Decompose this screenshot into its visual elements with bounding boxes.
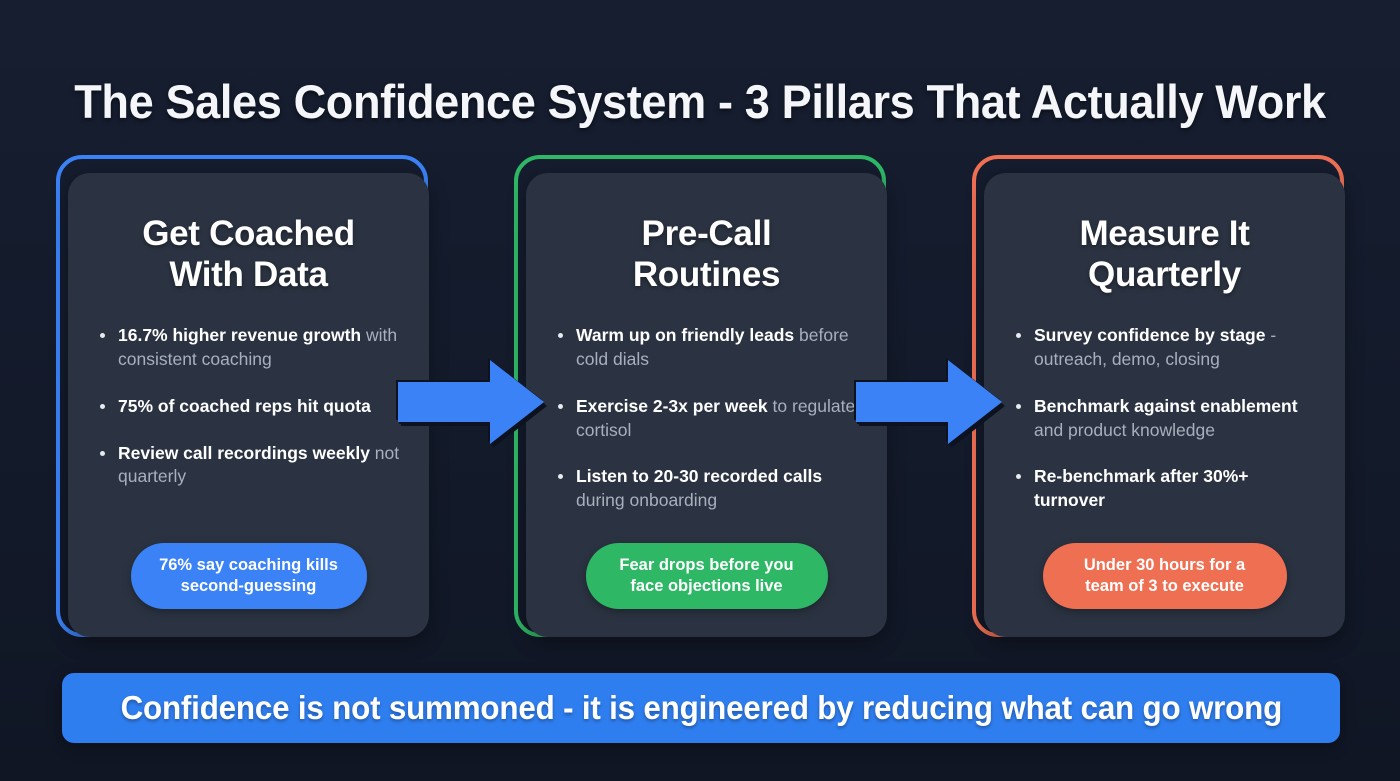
card-highlight-badge: 76% say coaching kills second-guessing bbox=[131, 543, 367, 609]
bullet-bold-text: Benchmark against enablement bbox=[1034, 396, 1298, 416]
list-item: Review call recordings weekly not quarte… bbox=[98, 442, 407, 490]
bullet-bold-text: 75% of coached reps hit quota bbox=[118, 396, 371, 416]
pillar-card-get-coached-with-data: Get CoachedWith Data 16.7% higher revenu… bbox=[56, 155, 428, 637]
list-item: Exercise 2-3x per week to regulate corti… bbox=[556, 395, 865, 443]
card-bullet-list: Survey confidence by stage - outreach, d… bbox=[984, 296, 1345, 514]
pillar-card-measure-it-quarterly: Measure ItQuarterly Survey confidence by… bbox=[972, 155, 1344, 637]
bullet-bold-text: Survey confidence by stage bbox=[1034, 325, 1265, 345]
pillar-cards-row: Get CoachedWith Data 16.7% higher revenu… bbox=[56, 155, 1344, 637]
bullet-rest-text: and product knowledge bbox=[1034, 420, 1215, 440]
card-highlight-badge: Fear drops before you face objections li… bbox=[586, 543, 828, 609]
bullet-bold-text: Review call recordings weekly bbox=[118, 443, 370, 463]
bullet-bold-text: Warm up on friendly leads bbox=[576, 325, 794, 345]
card-title: Pre-CallRoutines bbox=[526, 173, 887, 296]
card-inner-panel: Pre-CallRoutines Warm up on friendly lea… bbox=[526, 173, 887, 637]
bullet-bold-text: 16.7% higher revenue growth bbox=[118, 325, 361, 345]
bullet-bold-text: Re-benchmark after 30%+ turnover bbox=[1034, 466, 1248, 510]
list-item: 75% of coached reps hit quota bbox=[98, 395, 407, 419]
list-item: Survey confidence by stage - outreach, d… bbox=[1014, 324, 1323, 372]
card-highlight-badge: Under 30 hours for a team of 3 to execut… bbox=[1043, 543, 1287, 609]
card-bullet-list: 16.7% higher revenue growth with consist… bbox=[68, 296, 429, 490]
list-item: Listen to 20-30 recorded calls during on… bbox=[556, 465, 865, 513]
right-arrow-icon bbox=[856, 360, 1002, 444]
list-item: Benchmark against enablement and product… bbox=[1014, 395, 1323, 443]
footer-banner: Confidence is not summoned - it is engin… bbox=[62, 673, 1340, 743]
infographic-page: The Sales Confidence System - 3 Pillars … bbox=[0, 0, 1400, 781]
bullet-bold-text: Exercise 2-3x per week bbox=[576, 396, 768, 416]
list-item: Warm up on friendly leads before cold di… bbox=[556, 324, 865, 372]
bullet-rest-text: during onboarding bbox=[576, 490, 717, 510]
right-arrow-icon bbox=[398, 360, 544, 444]
list-item: Re-benchmark after 30%+ turnover bbox=[1014, 465, 1323, 513]
page-title: The Sales Confidence System - 3 Pillars … bbox=[28, 76, 1372, 129]
card-inner-panel: Measure ItQuarterly Survey confidence by… bbox=[984, 173, 1345, 637]
card-title: Get CoachedWith Data bbox=[68, 173, 429, 296]
card-bullet-list: Warm up on friendly leads before cold di… bbox=[526, 296, 887, 514]
bullet-bold-text: Listen to 20-30 recorded calls bbox=[576, 466, 822, 486]
footer-banner-text: Confidence is not summoned - it is engin… bbox=[120, 689, 1282, 727]
card-inner-panel: Get CoachedWith Data 16.7% higher revenu… bbox=[68, 173, 429, 637]
list-item: 16.7% higher revenue growth with consist… bbox=[98, 324, 407, 372]
card-title: Measure ItQuarterly bbox=[984, 173, 1345, 296]
pillar-card-pre-call-routines: Pre-CallRoutines Warm up on friendly lea… bbox=[514, 155, 886, 637]
